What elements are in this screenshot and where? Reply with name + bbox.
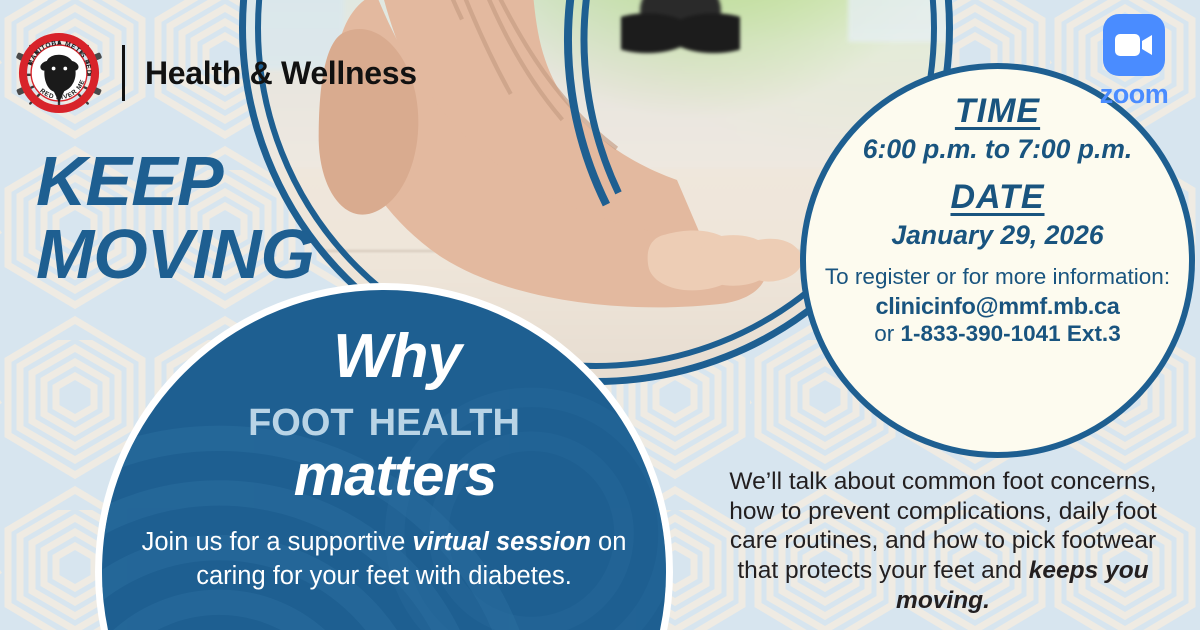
why-foot-health-circle: Why Foot Health matters Join us for a su… [95,283,673,630]
date-label: DATE [950,179,1044,216]
registration-info: To register or for more information: cli… [825,264,1170,347]
zoom-app-icon [1103,14,1165,76]
headline-foot-health: Foot Health [248,390,520,445]
manitoba-metis-federation-logo: MANITOBA METIS FEDERATION RED RIVER METI… [14,28,104,118]
register-line-2: information: [1053,264,1171,289]
blurb-virtual-session: virtual session [412,528,591,556]
headline-line-2: MOVING [36,221,314,288]
header-title: Health & Wellness [145,55,417,92]
contact-phone[interactable]: or 1-833-390-1041 Ext.3 [825,321,1170,347]
keep-moving-headline: KEEP MOVING [36,148,314,288]
time-label: TIME [955,93,1040,130]
headline-line-1: KEEP [36,148,314,215]
blurb-part-a: Join us for a supportive [142,528,413,556]
zoom-logo: zoom [1088,14,1180,110]
zoom-wordmark: zoom [1088,79,1180,110]
contact-email[interactable]: clinicinfo@mmf.mb.ca [825,293,1170,320]
date-value: January 29, 2026 [891,221,1103,250]
event-details-circle: TIME 6:00 p.m. to 7:00 p.m. DATE January… [800,63,1195,458]
session-description: We’ll talk about common foot concerns, h… [708,467,1178,616]
header-divider [122,45,125,101]
headline-matters: matters [294,447,497,505]
session-blurb: Join us for a supportive virtual session… [125,525,644,593]
phone-prefix: or [874,321,900,346]
video-camera-icon [1114,32,1154,58]
phone-number: 1-833-390-1041 Ext.3 [901,321,1121,346]
brand-header: MANITOBA METIS FEDERATION RED RIVER METI… [14,28,417,118]
poster-canvas: Why Foot Health matters Join us for a su… [0,0,1200,630]
time-value: 6:00 p.m. to 7:00 p.m. [863,135,1133,164]
headline-why: Why [333,326,461,388]
register-line-1: To register or for more [825,264,1046,289]
